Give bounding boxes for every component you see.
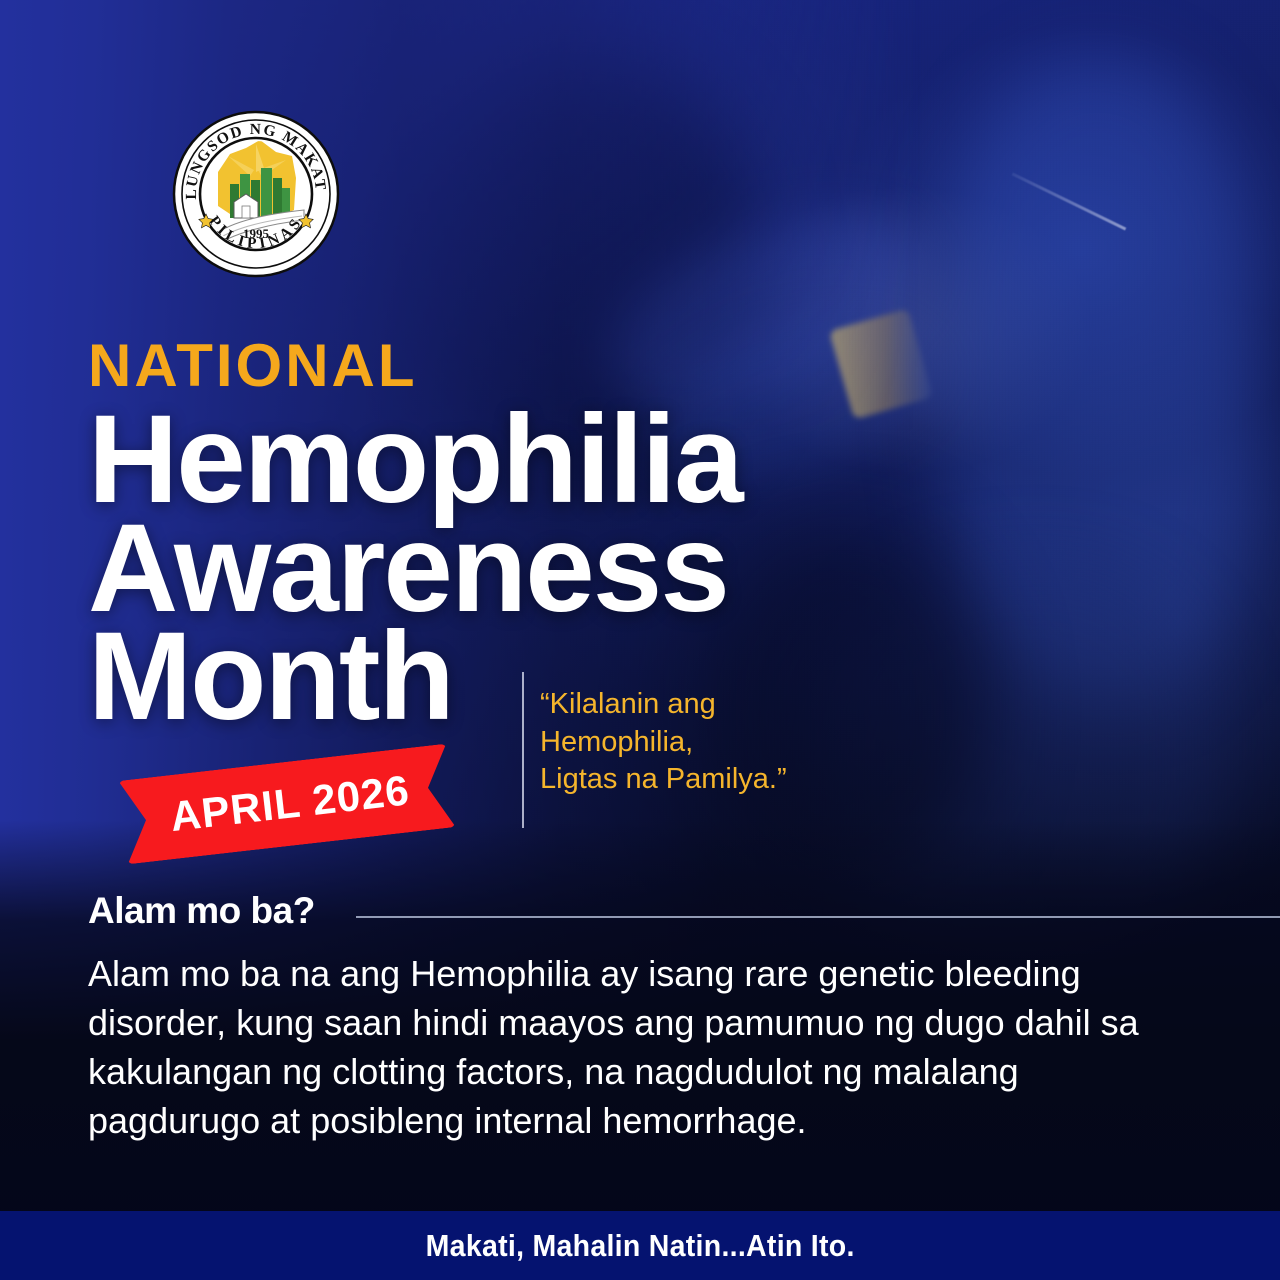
poster: 1995 LUNGSOD NG MAKATI PILIPINAS NATIONA… xyxy=(0,0,1280,1280)
tagline-line-2: Hemophilia, xyxy=(540,724,890,762)
headline-block: NATIONAL Hemophilia Awareness Month xyxy=(88,336,848,734)
did-you-know-heading: Alam mo ba? xyxy=(88,890,315,932)
eyebrow-national: NATIONAL xyxy=(88,336,848,396)
tagline-line-1: “Kilalanin ang xyxy=(540,686,890,724)
tagline-line-3: Ligtas na Pamilya.” xyxy=(540,761,890,799)
tagline-divider xyxy=(522,672,524,828)
did-you-know-rule xyxy=(356,916,1280,918)
footer-bar: Makati, Mahalin Natin...Atin Ito. xyxy=(0,1211,1280,1280)
makati-seal-icon: 1995 LUNGSOD NG MAKATI PILIPINAS xyxy=(172,110,340,278)
tagline-block: “Kilalanin ang Hemophilia, Ligtas na Pam… xyxy=(540,686,890,799)
did-you-know-body: Alam mo ba na ang Hemophilia ay isang ra… xyxy=(88,950,1198,1146)
footer-slogan: Makati, Mahalin Natin...Atin Ito. xyxy=(425,1228,854,1264)
